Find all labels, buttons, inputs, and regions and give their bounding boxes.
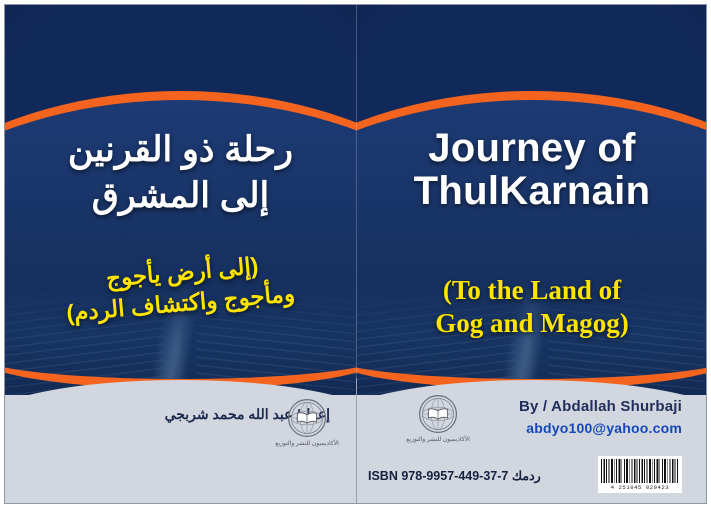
back-title-line1: رحلة ذو القرنين (5, 127, 356, 173)
back-title-block: رحلة ذو القرنين إلى المشرق (إلى أرض يأجو… (5, 127, 356, 318)
front-footer-content: الأكاديميون للنشر والتوزيع By / Abdallah… (356, 380, 707, 504)
author-byline: By / Abdallah Shurbaji (519, 398, 682, 415)
author-credit-block: By / Abdallah Shurbaji abdyo100@yahoo.co… (519, 398, 682, 436)
back-footer-content: إعداد/ عبد الله محمد شربجي الأكاديميون ل… (5, 380, 356, 504)
isbn-label-arabic: ردمك (512, 468, 541, 483)
publisher-caption-back: الأكاديميون للنشر والتوزيع (253, 441, 356, 448)
isbn-line: ISBN 978-9957-449-37-7 ردمك (368, 468, 544, 483)
ean-barcode: 4 251045 020423 (598, 456, 682, 493)
publisher-logo-front: الأكاديميون للنشر والتوزيع (384, 394, 492, 444)
front-subtitle-line1: (To the Land of (356, 213, 707, 306)
book-cover-image: رحلة ذو القرنين إلى المشرق (إلى أرض يأجو… (0, 0, 711, 508)
front-subtitle-line2: Gog and Magog) (356, 306, 707, 339)
barcode-bars (601, 459, 679, 483)
author-email[interactable]: abdyo100@yahoo.com (519, 420, 682, 436)
back-cover-panel: رحلة ذو القرنين إلى المشرق (إلى أرض يأجو… (5, 5, 356, 504)
barcode-digits: 4 251045 020423 (601, 483, 679, 492)
cover-sheet: رحلة ذو القرنين إلى المشرق (إلى أرض يأجو… (4, 4, 707, 504)
front-title-line2: ThulKarnain (356, 170, 707, 213)
front-title-block: Journey of ThulKarnain (To the Land of G… (356, 127, 707, 339)
front-cover-panel: Journey of ThulKarnain (To the Land of G… (356, 5, 707, 504)
front-title-line1: Journey of (356, 127, 707, 170)
spine-divider-footer (356, 378, 357, 503)
publisher-globe-book-icon (287, 398, 327, 438)
publisher-caption-front: الأكاديميون للنشر والتوزيع (384, 437, 492, 444)
publisher-globe-book-icon-front (418, 394, 458, 434)
publisher-logo-back: الأكاديميون للنشر والتوزيع (253, 398, 356, 448)
isbn-value: ISBN 978-9957-449-37-7 (368, 469, 508, 483)
